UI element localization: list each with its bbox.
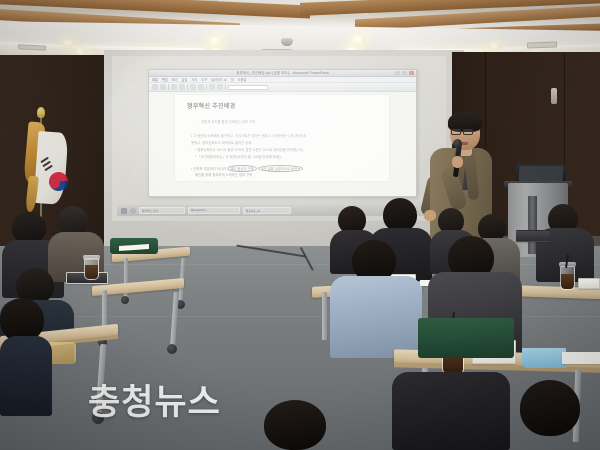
wall-fixture-icon	[551, 88, 557, 104]
iced-coffee-cup	[84, 258, 99, 280]
toolbar-separator	[225, 84, 226, 90]
glasses-icon	[463, 129, 473, 135]
coffee-liquid	[85, 265, 98, 279]
slide-bullet-0: ◦ 국민적 지지를 통한 신뢰받는 정부 구축	[199, 119, 255, 124]
downlight	[62, 40, 75, 47]
lecture-room-photo: 정부혁신_추진배경.ppt [호환 모드] - Microsoft PowerP…	[0, 0, 600, 450]
menu-item-slideshow[interactable]: 슬라이드 쇼	[211, 77, 227, 82]
menu-item-tools[interactable]: 도구	[201, 77, 207, 82]
toolbar[interactable]	[149, 83, 416, 92]
slide-highlight-oval-2: 국민 삶을 실질적으로 바꾸는	[258, 165, 304, 172]
window-title-bar: 정부혁신_추진배경.ppt [호환 모드] - Microsoft PowerP…	[149, 70, 416, 77]
slide-canvas[interactable]: 정부혁신 추진배경 ◦ 국민적 지지를 통한 신뢰받는 정부 구축 • 그 동안…	[175, 95, 389, 181]
window-controls[interactable]	[395, 71, 414, 75]
slide-bullet-4: * 「국가재정지지수」도 하위(36개국 중, 100점 만점에 56점)	[195, 154, 281, 159]
maximize-icon[interactable]	[402, 71, 407, 75]
taskbar-task-1[interactable]: Microsoft Po...	[188, 207, 240, 214]
undo-icon[interactable]	[190, 84, 196, 90]
handout-paper	[562, 352, 600, 364]
browser-icon[interactable]	[130, 208, 136, 214]
downlight	[488, 43, 502, 50]
close-icon[interactable]	[409, 71, 414, 75]
scroll-arrow-icon[interactable]	[132, 170, 137, 174]
desk-caster	[167, 344, 177, 354]
menu-item-window[interactable]: 창	[231, 77, 234, 82]
taskbar-task-1-label: Microsoft Po...	[191, 209, 208, 212]
slide-bullet-3: * 정부신뢰도는 OECD 평균 42%의 절반 수준인 24%로 하위권에 머…	[195, 147, 303, 152]
menu-item-view[interactable]: 보기	[172, 77, 178, 82]
glasses-icon	[451, 129, 461, 135]
minimize-icon[interactable]	[395, 71, 400, 75]
menu-item-file[interactable]: 파일	[152, 77, 158, 82]
taskbar-task-2-label: 발표자료_v3	[246, 209, 260, 213]
audience-torso	[392, 372, 510, 450]
scroll-thumb-icon[interactable]	[132, 78, 137, 83]
presentation-window[interactable]: 정부혁신_추진배경.ppt [호환 모드] - Microsoft PowerP…	[148, 69, 417, 197]
window-title-text: 정부혁신_추진배경.ppt [호환 모드] - Microsoft PowerP…	[236, 70, 329, 75]
flag-finial-icon	[37, 107, 45, 118]
redo-icon[interactable]	[198, 84, 204, 90]
watermark: 충청뉴스	[88, 374, 221, 425]
flag-field	[34, 131, 68, 205]
toolbar-separator	[206, 84, 207, 90]
new-icon[interactable]	[152, 84, 158, 90]
iced-coffee-cup	[560, 266, 575, 290]
audience-head	[520, 380, 580, 436]
audience-head	[264, 400, 326, 450]
laptop-bag	[516, 230, 550, 242]
coffee-liquid	[561, 274, 574, 289]
start-button-icon[interactable]	[121, 208, 127, 214]
slide-heading: 정부혁신 추진배경	[187, 101, 236, 110]
menu-item-edit[interactable]: 편집	[162, 77, 168, 82]
menu-item-format[interactable]: 서식	[192, 77, 198, 82]
menu-item-help[interactable]: 도움말	[238, 77, 247, 82]
taskbar-task-0-label: 정부혁신_추진...	[142, 209, 160, 213]
taskbar-task-0[interactable]: 정부혁신_추진...	[139, 207, 185, 214]
desk-caster	[121, 296, 129, 304]
speaker-left-hand	[424, 210, 436, 221]
zoom-icon[interactable]	[209, 84, 215, 90]
cup-lid-icon	[83, 255, 100, 260]
chart-icon[interactable]	[217, 84, 223, 90]
downlight	[74, 48, 87, 55]
menu-item-insert[interactable]: 삽입	[182, 77, 188, 82]
air-vent	[527, 41, 557, 48]
cup-lid-icon	[559, 262, 576, 267]
toolbar-separator	[168, 84, 169, 90]
audience-torso	[330, 276, 422, 358]
audience-head	[383, 198, 417, 232]
slide-bullet-6: 혁신을 위해 집요하게 노력하는 정부 구축	[195, 172, 252, 177]
slide-bullet-5-text: • 단편적·부분적인 아니라	[191, 167, 226, 171]
chair	[418, 318, 514, 358]
slide-highlight-oval-1: 제도 중심의 구축	[227, 165, 257, 172]
print-icon[interactable]	[179, 84, 185, 90]
slide-bullet-5: • 단편적·부분적인 아니라 제도 중심의 구축 국민 삶을 실질적으로 바꾸는	[191, 165, 303, 172]
desk-leg	[322, 292, 327, 340]
slide-bullet-1: • 그 동안의 노력에도 불구하고, 국가사회가 겪하는 변화나 국지문제는 1…	[191, 133, 306, 138]
blue-booklet	[522, 348, 566, 368]
toolbar-separator	[187, 84, 188, 90]
audience-torso	[0, 336, 52, 416]
sandwich-box	[578, 278, 600, 289]
downlight	[208, 37, 223, 45]
downlight	[351, 36, 366, 44]
open-icon[interactable]	[160, 84, 166, 90]
slide-bullet-2: 못하고, 정부신뢰도도 최하위로 떨어진 상태	[191, 140, 251, 145]
taskbar-task-2[interactable]: 발표자료_v3	[243, 207, 291, 214]
microphone-head-icon	[453, 139, 462, 148]
glasses-bridge	[461, 131, 464, 132]
save-icon[interactable]	[171, 84, 177, 90]
toolbar-search-input[interactable]	[228, 85, 268, 90]
speaker-right-hand	[452, 156, 463, 168]
